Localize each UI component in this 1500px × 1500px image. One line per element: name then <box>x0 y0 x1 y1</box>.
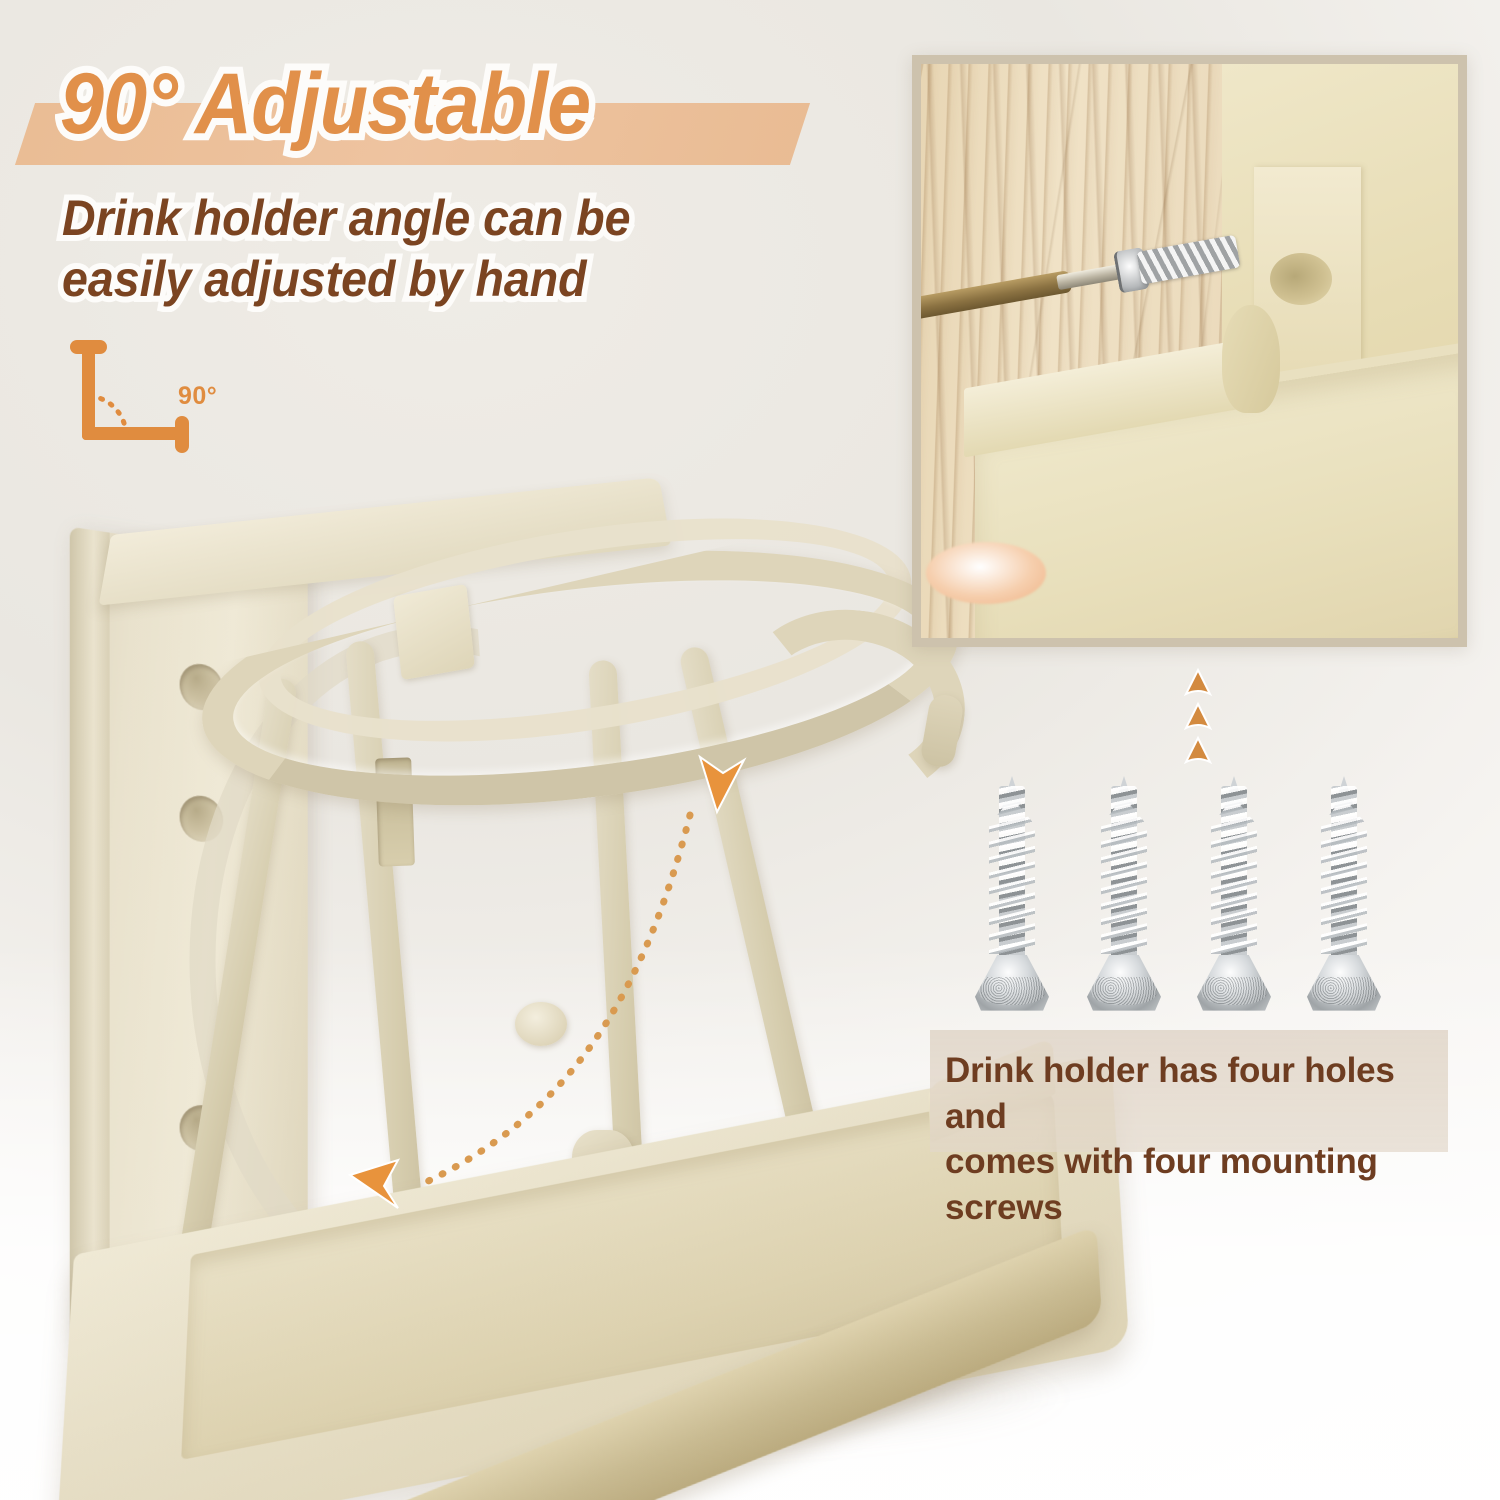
chevron-up-icon <box>1186 670 1210 694</box>
up-arrows-svg <box>1178 668 1218 768</box>
chevron-up-icon <box>1186 738 1210 762</box>
screws-caption-text: Drink holder has four holes and comes wi… <box>945 1048 1445 1230</box>
background-highlight <box>926 542 1046 604</box>
screw-head <box>975 955 1049 1013</box>
screw-installation-photo <box>912 55 1467 647</box>
back-plate-rim <box>70 527 110 1339</box>
chevron-up-icon <box>1186 704 1210 728</box>
screw-thread <box>1321 804 1367 954</box>
screw-head <box>1307 955 1381 1013</box>
subtitle-line-2: easily adjusted by hand <box>62 249 630 310</box>
caption-line-1: Drink holder has four holes and <box>945 1048 1445 1139</box>
inset-photo-image <box>921 64 1458 638</box>
page-title: 90° Adjustable <box>60 55 590 154</box>
screw-thread <box>1211 804 1257 954</box>
screw-item <box>1307 778 1381 1013</box>
holder-latch <box>393 584 475 680</box>
screw-head <box>1087 955 1161 1013</box>
screw-thread <box>1101 804 1147 954</box>
screw-head <box>1197 955 1271 1013</box>
mounting-boss <box>1222 305 1280 413</box>
subtitle-line-1: Drink holder angle can be <box>62 188 630 249</box>
right-angle-icon: 90° <box>60 330 260 460</box>
caption-line-2: comes with four mounting screws <box>945 1139 1445 1230</box>
right-angle-svg <box>60 330 260 460</box>
screw-item <box>1197 778 1271 1013</box>
screws-caption-band: Drink holder has four holes and comes wi… <box>930 1030 1448 1152</box>
screw-thread <box>989 804 1035 954</box>
holder-pivot <box>515 1002 567 1046</box>
angle-degree-label: 90° <box>178 382 217 411</box>
mounting-screws-group <box>975 778 1405 1013</box>
screw-item <box>1087 778 1161 1013</box>
up-arrows-indicator <box>1178 668 1218 768</box>
infographic-page: 90° Adjustable Drink holder angle can be… <box>0 0 1500 1500</box>
screw-item <box>975 778 1049 1013</box>
page-subtitle: Drink holder angle can be easily adjuste… <box>62 188 630 310</box>
